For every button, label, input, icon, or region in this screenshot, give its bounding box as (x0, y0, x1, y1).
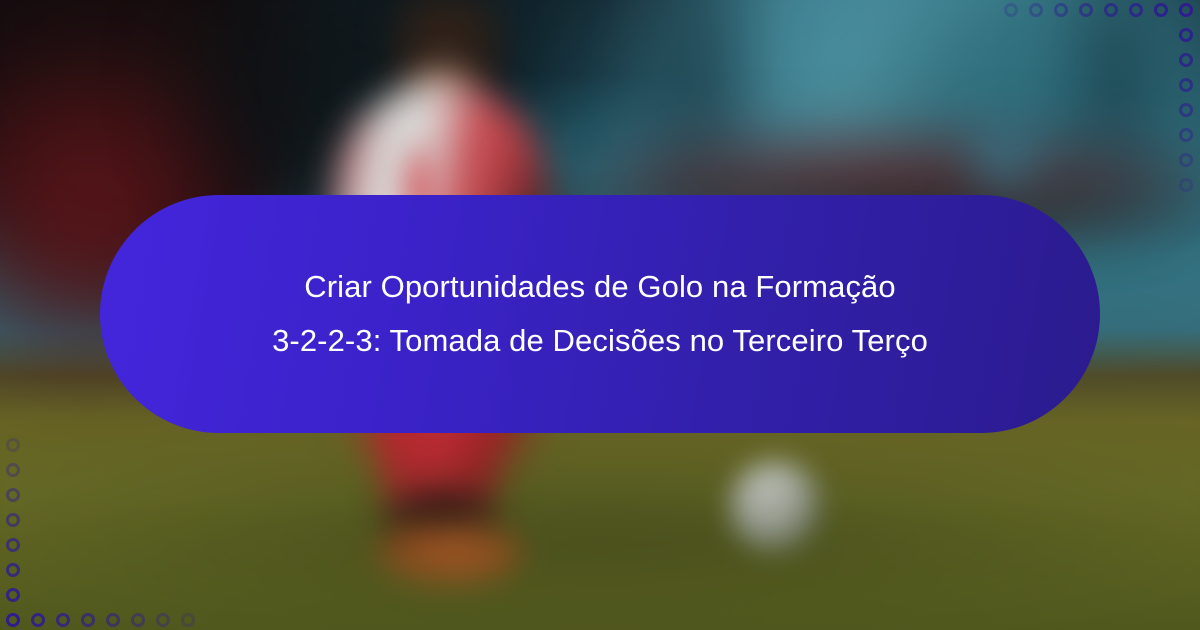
decorative-dot (6, 463, 20, 477)
decorative-dot (6, 438, 20, 452)
decorative-dot (1154, 3, 1168, 17)
decorative-dot (6, 613, 20, 627)
decorative-dot (1179, 103, 1193, 117)
decorative-dot (1179, 178, 1193, 192)
decorative-dot (1079, 3, 1093, 17)
decorative-dot (56, 613, 70, 627)
decorative-dot (1179, 53, 1193, 67)
decorative-dot (6, 513, 20, 527)
page-title-line-1: Criar Oportunidades de Golo na Formação (272, 260, 928, 314)
decorative-dot (6, 563, 20, 577)
decorative-dot (1029, 3, 1043, 17)
decorative-dot (1179, 153, 1193, 167)
decorative-dot (1104, 3, 1118, 17)
decorative-dot (1129, 3, 1143, 17)
decorative-dot (1179, 128, 1193, 142)
decorative-dot (1054, 3, 1068, 17)
decorative-dot (1179, 78, 1193, 92)
decorative-dot (1179, 28, 1193, 42)
decorative-dot (131, 613, 145, 627)
decorative-dot (106, 613, 120, 627)
page-title-line-2: 3-2-2-3: Tomada de Decisões no Terceiro … (272, 314, 928, 368)
decorative-dot (6, 538, 20, 552)
decorative-dot (6, 488, 20, 502)
decorative-dot (81, 613, 95, 627)
decorative-dot (181, 613, 195, 627)
decorative-dot (31, 613, 45, 627)
decorative-dot (1179, 3, 1193, 17)
page-title: Criar Oportunidades de Golo na Formação … (202, 260, 998, 368)
decorative-dot (156, 613, 170, 627)
decorative-dot (1004, 3, 1018, 17)
poster-canvas: Criar Oportunidades de Golo na Formação … (0, 0, 1200, 630)
headline-card: Criar Oportunidades de Golo na Formação … (100, 195, 1100, 433)
decorative-dot (6, 588, 20, 602)
